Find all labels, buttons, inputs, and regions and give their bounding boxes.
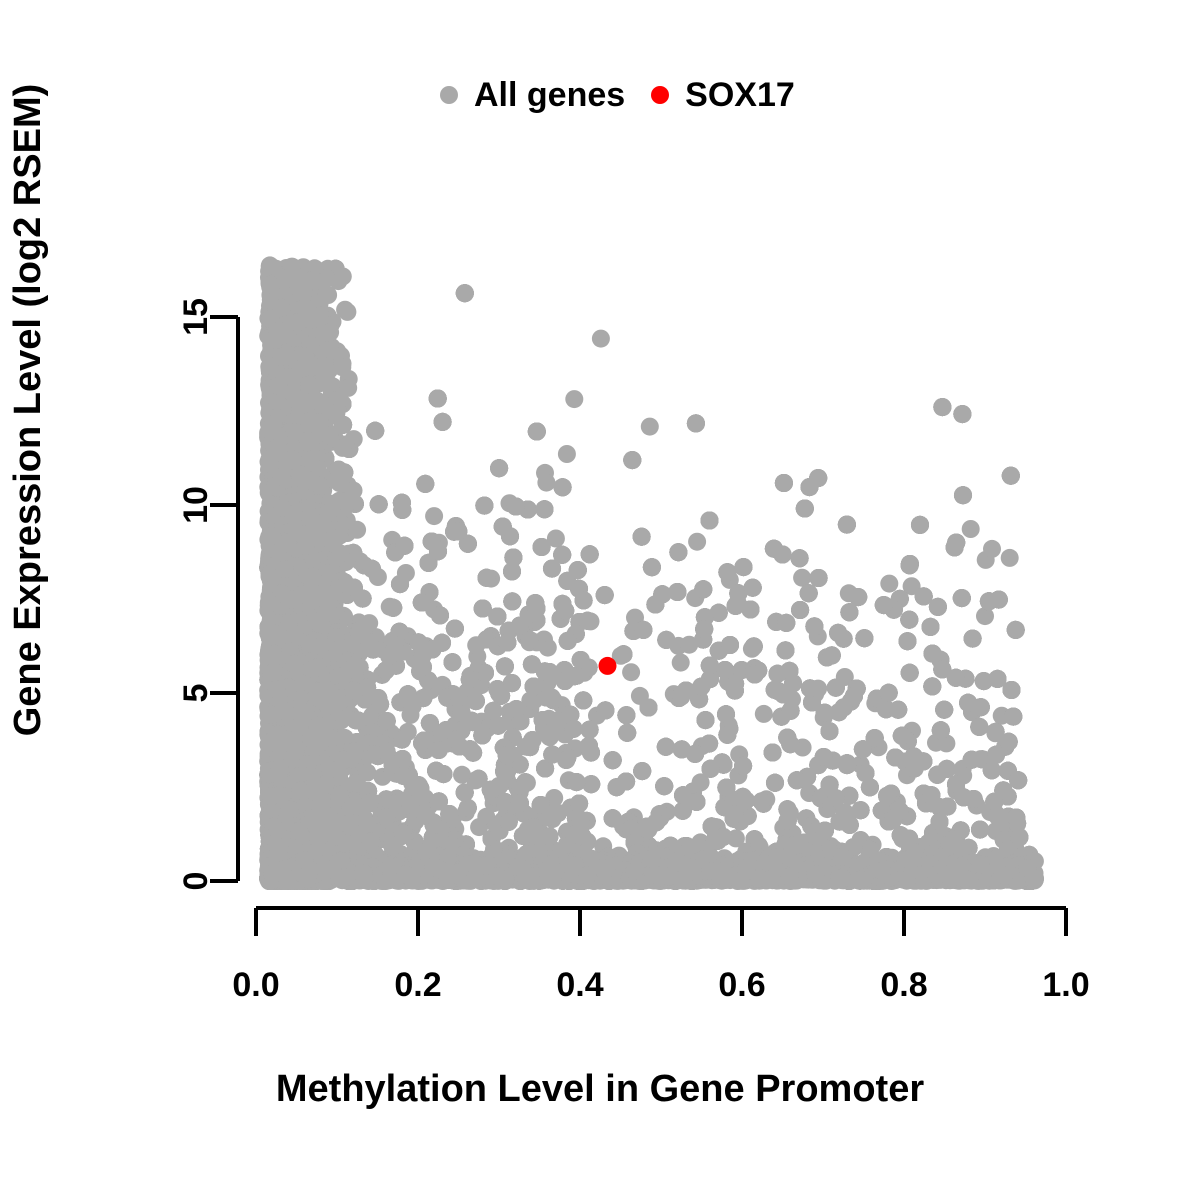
data-point [688,533,706,551]
data-point [672,654,690,672]
data-point [755,705,773,723]
data-point [537,474,555,492]
data-point [592,330,610,348]
data-point [641,418,659,436]
data-point [793,569,811,587]
data-points-layer [259,256,1044,890]
plot-canvas: 0510150.00.20.40.60.81.0 [0,0,1200,1200]
scatter-plot-figure: All genes SOX17 0510150.00.20.40.60.81.0… [0,0,1200,1200]
data-point [565,390,583,408]
data-point [1001,549,1019,567]
data-point [622,663,640,681]
data-point [425,507,443,525]
data-point [558,445,576,463]
data-point [962,520,980,538]
data-point [983,540,1001,558]
data-point [880,575,898,593]
